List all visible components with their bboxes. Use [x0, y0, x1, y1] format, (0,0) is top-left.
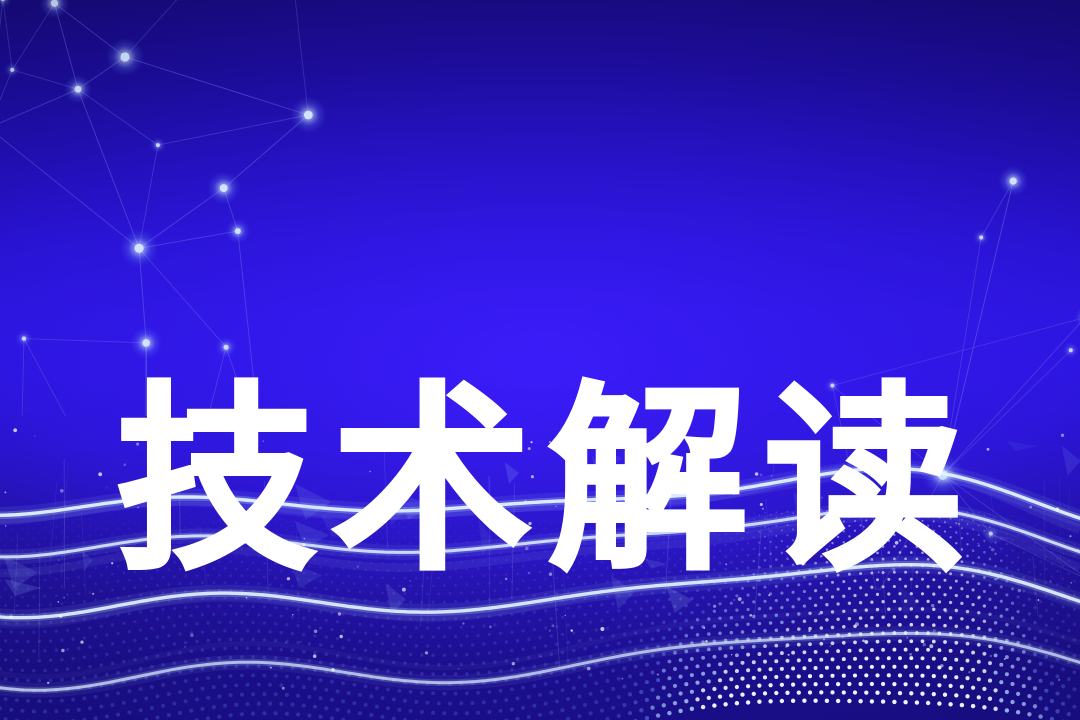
background-gradient: [0, 0, 1080, 720]
tech-banner: 技术解读: [0, 0, 1080, 720]
page-title: 技术解读: [0, 382, 1080, 582]
